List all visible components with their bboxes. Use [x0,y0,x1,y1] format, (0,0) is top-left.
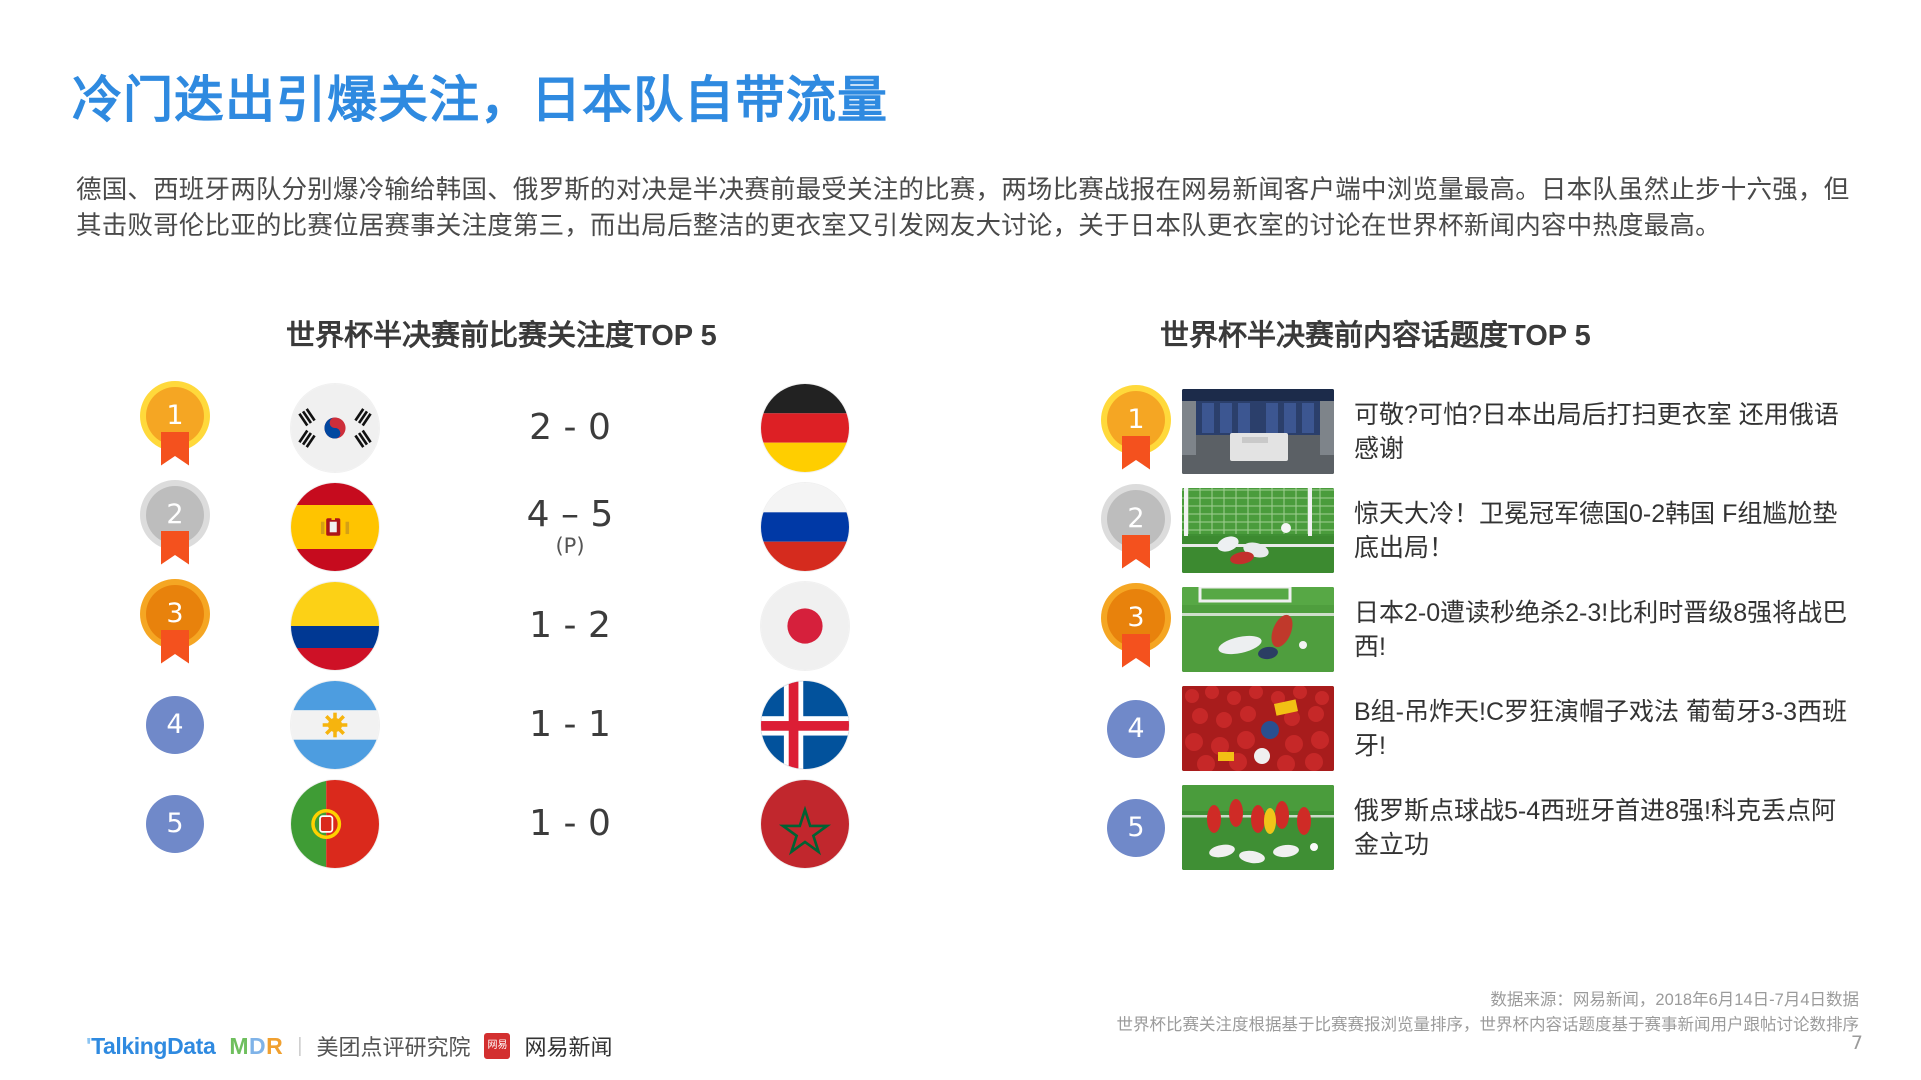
score-cell: 1 - 2 [440,607,700,645]
list-item[interactable]: 3 日本2-0遭读秒绝杀2-3!比利时晋级8强将战巴西! [1090,580,1890,679]
germany-flag-icon [761,384,849,472]
list-item[interactable]: 2 [1090,481,1890,580]
score-cell: 1 - 0 [440,805,700,843]
source-footnote: 数据来源：网易新闻，2018年6月14日-7月4日数据 世界杯比赛关注度根据基于… [1117,988,1860,1038]
score-cell: 2 - 0 [440,409,700,447]
bronze-medal-icon: 3 [1107,589,1165,671]
away-flag-cell [700,780,910,868]
news-headline[interactable]: 惊天大冷！卫冕冠军德国0-2韩国 F组尴尬垫底出局！ [1354,497,1854,565]
page-title: 冷门迭出引爆关注，日本队自带流量 [72,60,888,132]
away-flag-cell [700,681,910,769]
morocco-flag-icon [761,780,849,868]
rank-cell: 5 [120,795,230,853]
silver-medal-icon: 2 [1107,490,1165,572]
table-row: 3 1 - 2 [120,576,910,675]
red-crowd-photo [1182,686,1334,771]
south-korea-flag-icon [291,384,379,472]
match-ranking-list: 1 [120,378,910,873]
japan-flag-icon [761,582,849,670]
colombia-flag-icon [291,582,379,670]
rank-cell: 3 [1090,589,1182,671]
away-flag-cell [700,483,910,571]
rank-cell: 2 [120,486,230,568]
news-topic-list: 1 可敬?可怕?日本出局后打扫更衣室 还用俄语感谢 [1090,382,1890,877]
logo-divider: | [297,1035,302,1058]
rank-cell: 4 [120,696,230,754]
intro-paragraph: 德国、西班牙两队分别爆冷输给韩国、俄罗斯的对决是半决赛前最受关注的比赛，两场比赛… [76,172,1856,244]
rank-cell: 1 [1090,391,1182,473]
table-row: 5 1 - 0 [120,774,910,873]
away-flag-cell [700,582,910,670]
rank-cell: 5 [1090,799,1182,857]
talkingdata-logo: 'TalkingData [86,1033,215,1060]
table-row: 1 [120,378,910,477]
locker-room-photo [1182,389,1334,474]
news-headline[interactable]: 日本2-0遭读秒绝杀2-3!比利时晋级8强将战巴西! [1354,596,1854,664]
spain-flag-icon [291,483,379,571]
right-column-heading: 世界杯半决赛前内容话题度TOP 5 [1160,312,1591,354]
russia-flag-icon [761,483,849,571]
rank-badge: 5 [1107,799,1165,857]
home-flag-cell [230,681,440,769]
rank-badge: 5 [146,795,204,853]
score-cell: 4 – 5 (P) [440,496,700,557]
ribbon-icon [161,531,189,565]
footer-logos: 'TalkingData MDR | 美团点评研究院 网易 网易新闻 [86,1030,613,1062]
goalmouth-save-photo [1182,488,1334,573]
page-number: 7 [1851,1032,1863,1054]
netease-news-logo: 网易新闻 [524,1030,612,1062]
footnote-line-2: 世界杯比赛关注度根据基于比赛赛报浏览量排序，世界杯内容话题度基于赛事新闻用户跟帖… [1117,1013,1860,1038]
rank-badge: 4 [146,696,204,754]
mdr-logo: MDR [229,1033,283,1060]
rank-cell: 1 [120,387,230,469]
news-headline[interactable]: 俄罗斯点球战5-4西班牙首进8强!科克丢点阿金立功 [1354,794,1854,862]
score-text: 1 - 1 [529,704,611,745]
ribbon-icon [1122,436,1150,470]
rank-cell: 4 [1090,700,1182,758]
score-note: (P) [440,535,700,557]
list-item[interactable]: 4 B组-吊炸天!C罗狂演帽子戏法 葡萄牙3-3西班 [1090,679,1890,778]
home-flag-cell [230,483,440,571]
list-item[interactable]: 1 可敬?可怕?日本出局后打扫更衣室 还用俄语感谢 [1090,382,1890,481]
portugal-flag-icon [291,780,379,868]
gold-medal-icon: 1 [146,387,204,469]
netease-badge-icon: 网易 [484,1033,510,1059]
home-flag-cell [230,384,440,472]
list-item[interactable]: 5 [1090,778,1890,877]
players-on-pitch-photo [1182,587,1334,672]
score-cell: 1 - 1 [440,706,700,744]
argentina-flag-icon [291,681,379,769]
gold-medal-icon: 1 [1107,391,1165,473]
ribbon-icon [161,630,189,664]
score-text: 4 – 5 [527,494,614,535]
table-row: 2 4 – 5 (P) [120,477,910,576]
rank-badge: 4 [1107,700,1165,758]
left-column-heading: 世界杯半决赛前比赛关注度TOP 5 [286,312,717,354]
meituan-research-logo: 美团点评研究院 [316,1030,470,1062]
ribbon-icon [1122,634,1150,668]
footnote-line-1: 数据来源：网易新闻，2018年6月14日-7月4日数据 [1117,988,1860,1013]
home-flag-cell [230,780,440,868]
slide: 冷门迭出引爆关注，日本队自带流量 德国、西班牙两队分别爆冷输给韩国、俄罗斯的对决… [0,0,1921,1080]
score-text: 2 - 0 [529,407,611,448]
news-headline[interactable]: 可敬?可怕?日本出局后打扫更衣室 还用俄语感谢 [1354,398,1854,466]
news-headline[interactable]: B组-吊炸天!C罗狂演帽子戏法 葡萄牙3-3西班牙! [1354,695,1854,763]
home-flag-cell [230,582,440,670]
rank-cell: 2 [1090,490,1182,572]
table-row: 4 1 - 1 [120,675,910,774]
ribbon-icon [161,432,189,466]
rank-cell: 3 [120,585,230,667]
ribbon-icon [1122,535,1150,569]
celebration-photo [1182,785,1334,870]
away-flag-cell [700,384,910,472]
score-text: 1 - 2 [529,605,611,646]
score-text: 1 - 0 [529,803,611,844]
silver-medal-icon: 2 [146,486,204,568]
bronze-medal-icon: 3 [146,585,204,667]
iceland-flag-icon [761,681,849,769]
